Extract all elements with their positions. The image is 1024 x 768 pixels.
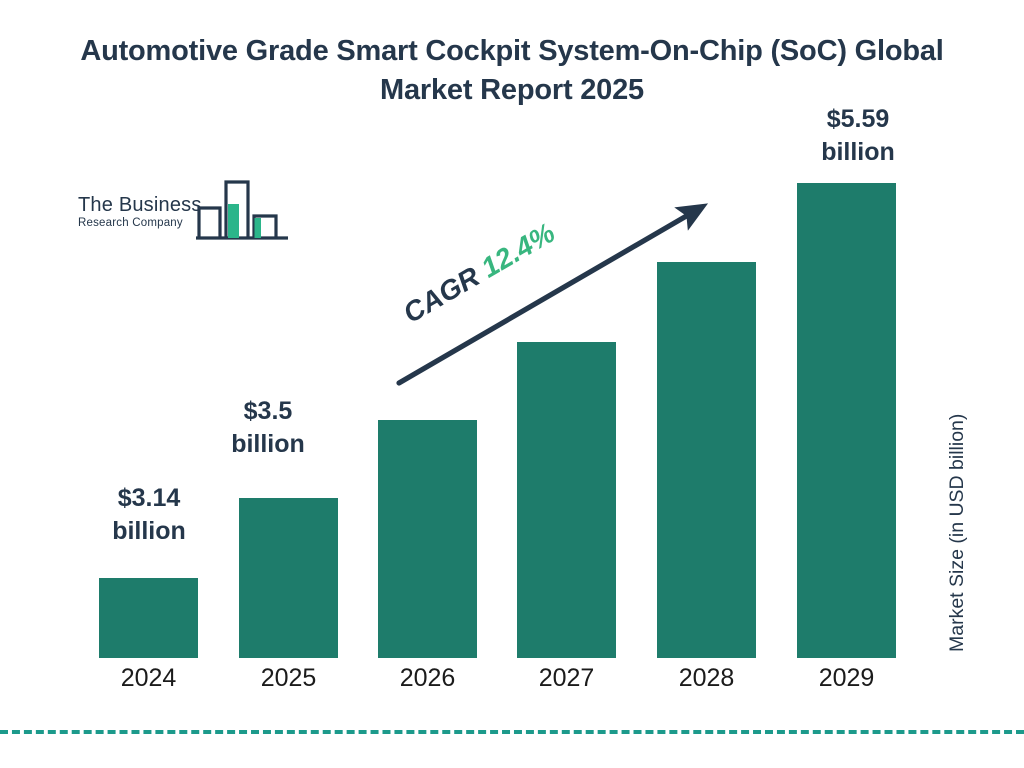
x-label-2026: 2026 xyxy=(378,664,477,693)
x-label-2025: 2025 xyxy=(239,664,338,693)
x-label-2028: 2028 xyxy=(657,664,756,693)
y-axis-title: Market Size (in USD billion) xyxy=(946,414,969,652)
cagr-growth-arrow-icon xyxy=(0,0,1024,768)
x-label-2024: 2024 xyxy=(99,664,198,693)
x-label-2029: 2029 xyxy=(797,664,896,693)
x-label-2027: 2027 xyxy=(517,664,616,693)
footer-divider xyxy=(0,730,1024,734)
chart-canvas: Automotive Grade Smart Cockpit System-On… xyxy=(0,0,1024,768)
